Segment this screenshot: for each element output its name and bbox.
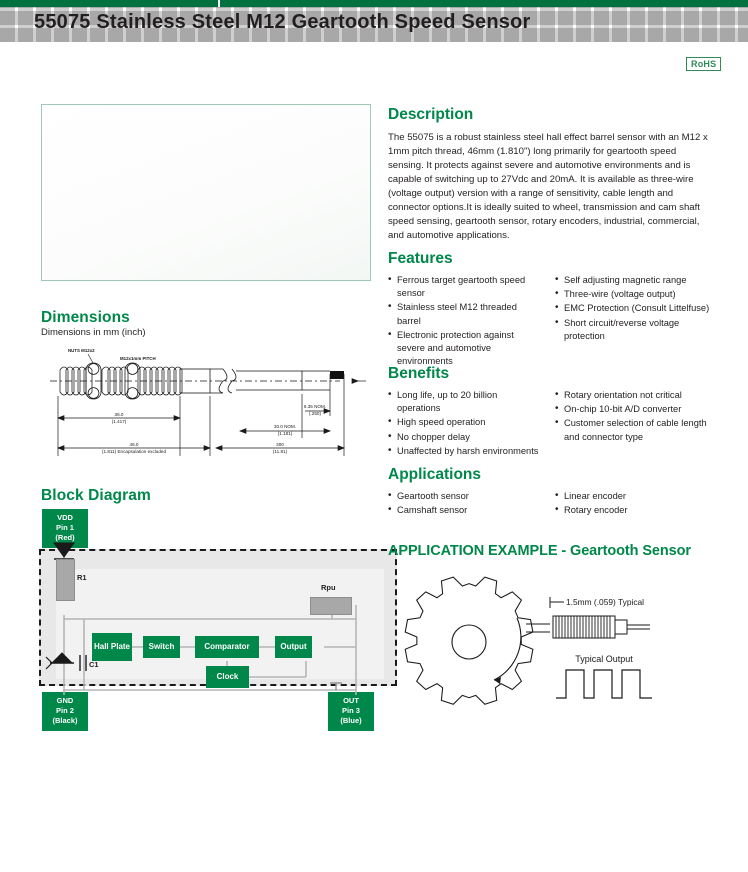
list-item: Rotary orientation not critical	[555, 389, 710, 402]
features-list-right: Self adjusting magnetic range Three-wire…	[555, 274, 710, 343]
label-nuts: NUTS M12x2	[68, 348, 95, 353]
dimensions-drawing: 36.0 (1.417) 46.0 (1.811) Encapsulation …	[40, 338, 370, 463]
dim-635-mm: 6.35 NOM.	[304, 404, 326, 409]
list-item: EMC Protection (Consult Littelfuse)	[555, 302, 710, 315]
capacitor-c1-label: C1	[89, 660, 99, 669]
dim-30-mm: 30.0 NOM.	[274, 424, 296, 429]
gear-shape	[405, 577, 533, 704]
list-item: Linear encoder	[555, 490, 710, 503]
application-example-section: APPLICATION EXAMPLE - Geartooth Sensor	[388, 543, 718, 559]
dim-300-mm: 300	[276, 442, 284, 447]
block-diagram-wiring	[36, 505, 376, 735]
list-item: No chopper delay	[388, 431, 543, 444]
dim-36-inch: (1.417)	[112, 419, 127, 424]
dim-635-inch: (.250)	[309, 411, 321, 416]
features-heading: Features	[388, 250, 710, 268]
list-item: High speed operation	[388, 416, 543, 429]
dimensions-note: Dimensions in mm (inch)	[41, 327, 146, 338]
product-photo	[41, 104, 371, 281]
description-heading: Description	[388, 106, 710, 124]
label-pitch: M12x1mm PITCH	[120, 356, 156, 361]
description-text: The 55075 is a robust stainless steel ha…	[388, 131, 710, 243]
benefits-section: Benefits Long life, up to 20 billion ope…	[388, 365, 710, 459]
list-item: Self adjusting magnetic range	[555, 274, 710, 287]
dimensions-heading: Dimensions	[41, 309, 130, 327]
list-item: Ferrous target geartooth speed sensor	[388, 274, 543, 300]
block-diagram: VDD Pin 1 (Red) GND Pin 2 (Black) OUT Pi…	[36, 505, 376, 735]
list-item: Three-wire (voltage output)	[555, 288, 710, 301]
features-list-left: Ferrous target geartooth speed sensor St…	[388, 274, 543, 368]
list-item: Camshaft sensor	[388, 504, 543, 517]
resistor-r1	[56, 559, 75, 601]
features-section: Features Ferrous target geartooth speed …	[388, 250, 710, 369]
list-item: Unaffected by harsh environments	[388, 445, 543, 458]
list-item: Rotary encoder	[555, 504, 710, 517]
list-item: Electronic protection against severe and…	[388, 329, 543, 369]
list-item: Long life, up to 20 billion operations	[388, 389, 543, 415]
rohs-badge: RoHS	[686, 57, 721, 71]
applications-heading: Applications	[388, 466, 710, 484]
resistor-r1-label: R1	[77, 573, 87, 582]
dim-300-inch: (11.81)	[273, 449, 288, 454]
dim-30-inch: (1.181)	[278, 431, 293, 436]
benefits-list-left: Long life, up to 20 billion operations H…	[388, 389, 543, 458]
list-item: Geartooth sensor	[388, 490, 543, 503]
list-item: Short circuit/reverse voltage protection	[555, 317, 710, 343]
resistor-rpu	[310, 597, 352, 615]
applications-list-right: Linear encoder Rotary encoder	[555, 490, 710, 517]
list-item: On-chip 10-bit A/D converter	[555, 403, 710, 416]
application-example-heading: APPLICATION EXAMPLE - Geartooth Sensor	[388, 543, 718, 559]
dim-46-mm: 46.0	[130, 442, 139, 447]
photo-background	[42, 105, 370, 280]
output-waveform	[556, 670, 652, 698]
block-output: Output	[275, 636, 312, 658]
page-title: 55075 Stainless Steel M12 Geartooth Spee…	[34, 11, 530, 34]
benefits-list-right: Rotary orientation not critical On-chip …	[555, 389, 710, 444]
benefits-heading: Benefits	[388, 365, 710, 383]
header-accent-bar	[0, 0, 748, 7]
gap-label: 1.5mm (.059) Typical	[566, 597, 644, 607]
block-diagram-heading: Block Diagram	[41, 487, 151, 505]
block-hall-plate: Hall Plate	[92, 633, 132, 661]
block-comparator: Comparator	[195, 636, 259, 658]
applications-section: Applications Geartooth sensor Camshaft s…	[388, 466, 710, 518]
header-tick-mark	[218, 0, 220, 7]
gear-hub	[452, 625, 486, 659]
description-section: Description The 55075 is a robust stainl…	[388, 106, 710, 243]
list-item: Stainless steel M12 threaded barrel	[388, 301, 543, 327]
page-header: 55075 Stainless Steel M12 Geartooth Spee…	[0, 0, 748, 42]
dim-46-inch: (1.811) Encapsulation excluded	[102, 449, 166, 454]
applications-list-left: Geartooth sensor Camshaft sensor	[388, 490, 543, 517]
list-item: Customer selection of cable length and c…	[555, 417, 710, 443]
resistor-rpu-label: Rpu	[321, 583, 336, 592]
block-switch: Switch	[143, 636, 180, 658]
dim-36-mm: 36.0	[115, 412, 124, 417]
geartooth-illustration: 1.5mm (.059) Typical Typical Output	[398, 570, 698, 715]
typical-output-label: Typical Output	[575, 654, 633, 664]
block-clock: Clock	[206, 666, 249, 688]
